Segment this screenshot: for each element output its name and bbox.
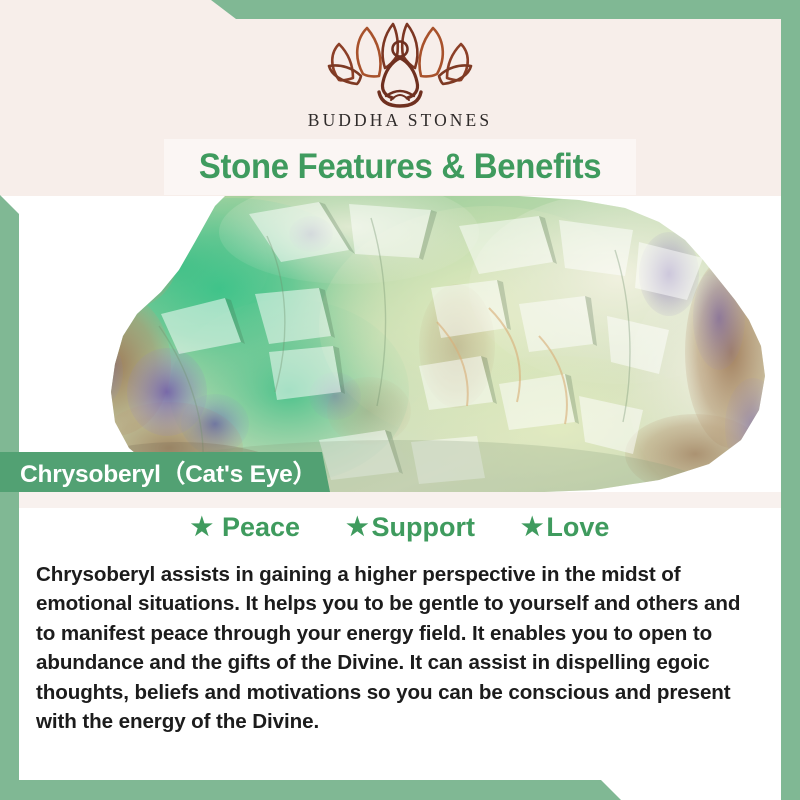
star-icon: ★ xyxy=(521,515,543,540)
benefit-keywords: ★ Peace ★ Support ★ Love xyxy=(19,512,781,543)
lotus-meditation-figure-icon xyxy=(323,22,477,108)
stone-description: Chrysoberyl assists in gaining a higher … xyxy=(36,560,758,736)
headline-banner: Stone Features & Benefits xyxy=(164,139,636,195)
star-icon: ★ xyxy=(191,515,213,540)
section-divider xyxy=(19,492,781,508)
keyword-peace: ★ Peace xyxy=(191,512,301,543)
frame-border-right-lower xyxy=(781,552,800,800)
page-title: Stone Features & Benefits xyxy=(199,147,601,187)
keyword-label: Love xyxy=(546,512,609,543)
stone-photo xyxy=(19,196,781,493)
keyword-love: ★ Love xyxy=(521,512,609,543)
keyword-label: Support xyxy=(371,512,474,543)
frame-border-bottom xyxy=(0,780,640,800)
frame-border-left xyxy=(0,195,19,800)
keyword-label: Peace xyxy=(222,512,300,543)
brand-name: BUDDHA STONES xyxy=(0,110,800,131)
stone-name-label: Chrysoberyl（Cat's Eye） xyxy=(0,455,317,490)
stone-benefits-infographic: BUDDHA STONES Stone Features & Benefits … xyxy=(0,0,800,800)
keyword-support: ★ Support xyxy=(346,512,475,543)
frame-border-top xyxy=(0,0,800,19)
stone-name-badge: Chrysoberyl（Cat's Eye） xyxy=(0,452,330,492)
rough-green-fluorite-stone-image xyxy=(19,196,781,493)
brand-header: BUDDHA STONES xyxy=(0,22,800,131)
star-icon: ★ xyxy=(346,515,368,540)
